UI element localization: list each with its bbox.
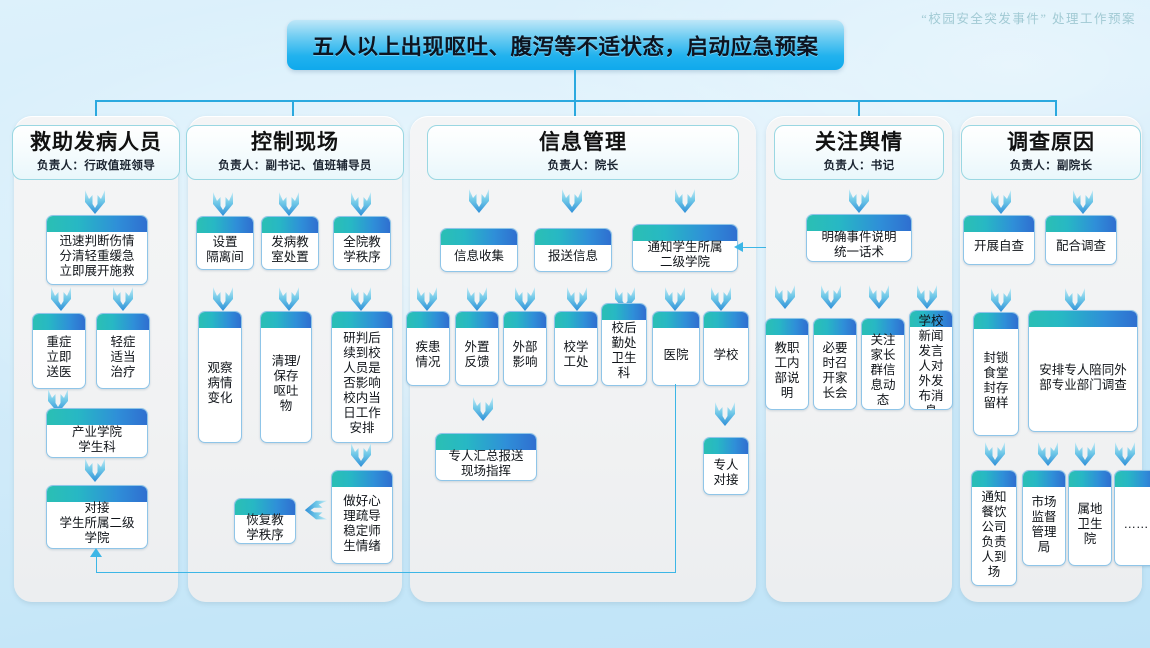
node-opinion-5[interactable]: 学校 新闻 发言 人对 外发 布消 息	[909, 310, 953, 410]
node-investigate-3[interactable]: 封锁 食堂 封存 留样	[973, 312, 1019, 436]
down-arrow-icon	[988, 286, 1014, 314]
node-investigate-4[interactable]: 安排专人陪同外 部专业部门调查	[1028, 310, 1138, 432]
down-arrow-icon	[1112, 440, 1138, 468]
node-investigate-1[interactable]: 开展自查	[963, 215, 1035, 265]
node-investigate-6[interactable]: 市场 监督 管理 局	[1022, 470, 1066, 566]
group-content-investigate: 开展自查 配合调查 封锁 食堂 封存 留样 安排专人陪同外 部专业部门调查 通知…	[0, 0, 1150, 648]
down-arrow-icon	[1035, 440, 1061, 468]
down-arrow-icon	[982, 440, 1008, 468]
down-arrow-icon	[1072, 440, 1098, 468]
node-scene-6[interactable]: 研判后 续到校 人员是 否影响 校内当 日工作 安排	[331, 311, 393, 443]
node-investigate-5[interactable]: 通知 餐饮 公司 负责 人到 场	[971, 470, 1017, 586]
down-arrow-icon	[1070, 188, 1096, 216]
node-investigate-8[interactable]: ……	[1114, 470, 1150, 566]
down-arrow-icon	[988, 188, 1014, 216]
node-investigate-7[interactable]: 属地 卫生 院	[1068, 470, 1112, 566]
node-investigate-2[interactable]: 配合调查	[1045, 215, 1117, 265]
